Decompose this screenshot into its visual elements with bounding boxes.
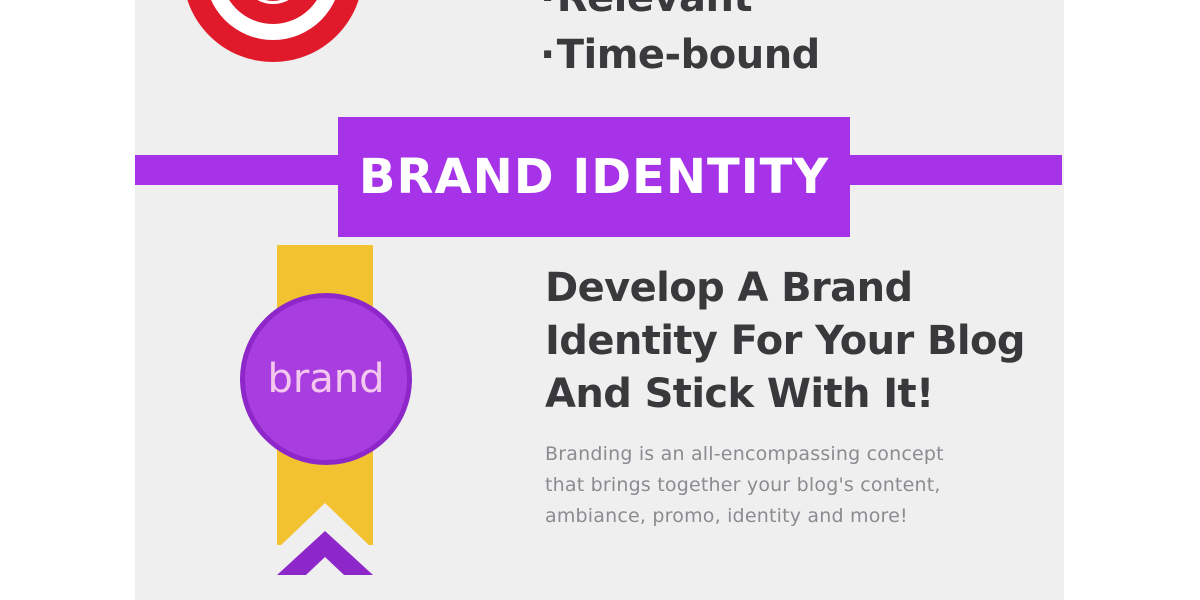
- infographic-canvas: ·Relevant ·Time-bound BRAND IDENTITY bra…: [135, 0, 1064, 600]
- ribbon-chevron-inner: [289, 557, 361, 591]
- smart-criteria-label: Time-bound: [557, 32, 820, 78]
- smart-criteria-item-relevant: ·Relevant: [540, 0, 900, 27]
- award-ribbon: brand: [225, 245, 425, 600]
- smart-criteria-label: Relevant: [557, 0, 752, 21]
- infographic-page: ·Relevant ·Time-bound BRAND IDENTITY bra…: [0, 0, 1200, 600]
- section-banner-box: BRAND IDENTITY: [338, 117, 850, 237]
- smart-criteria-item-time-bound: ·Time-bound: [540, 27, 900, 84]
- brand-medal-label: brand: [267, 359, 384, 399]
- bullet-icon: ·: [540, 0, 555, 27]
- section-banner: BRAND IDENTITY: [135, 117, 1064, 237]
- page-title: Develop A Brand Identity For Your Blog A…: [545, 262, 1055, 421]
- smart-criteria-list: ·Relevant ·Time-bound: [540, 0, 900, 84]
- banner-rule-right: [850, 155, 1062, 185]
- bullet-icon: ·: [540, 27, 555, 84]
- body-paragraph: Branding is an all-encompassing concept …: [545, 439, 960, 532]
- banner-rule-left: [135, 155, 338, 185]
- section-title: BRAND IDENTITY: [359, 153, 829, 201]
- brand-identity-copy: Develop A Brand Identity For Your Blog A…: [545, 262, 1055, 532]
- bullseye-target-icon: [183, 0, 363, 62]
- brand-medal: brand: [240, 293, 412, 465]
- bullseye-center: [244, 0, 302, 1]
